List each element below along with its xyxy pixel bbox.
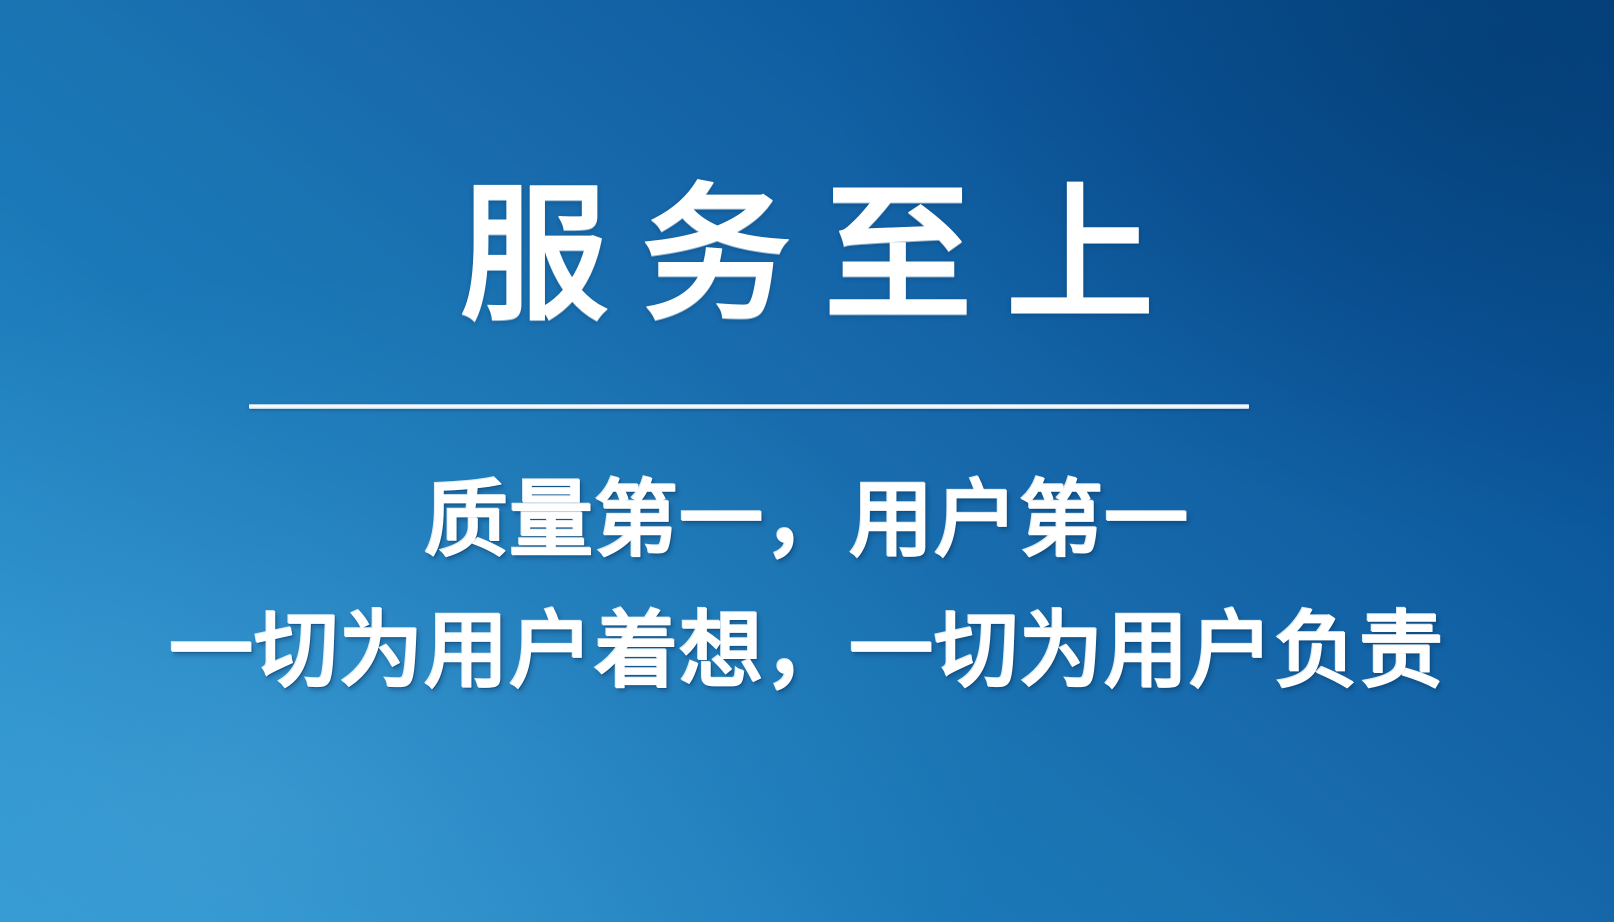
subtitle-line-1: 质量第一，用户第一: [0, 455, 1614, 586]
poster-content: 服务至上 质量第一，用户第一 一切为用户着想，一切为用户负责: [0, 0, 1614, 922]
subtitle-block: 质量第一，用户第一 一切为用户着想，一切为用户负责: [0, 455, 1614, 717]
title-divider: [249, 404, 1249, 409]
service-slogan-poster: 服务至上 质量第一，用户第一 一切为用户着想，一切为用户负责: [0, 0, 1614, 922]
subtitle-line-2: 一切为用户着想，一切为用户负责: [0, 586, 1614, 717]
page-title: 服务至上: [0, 182, 1614, 330]
